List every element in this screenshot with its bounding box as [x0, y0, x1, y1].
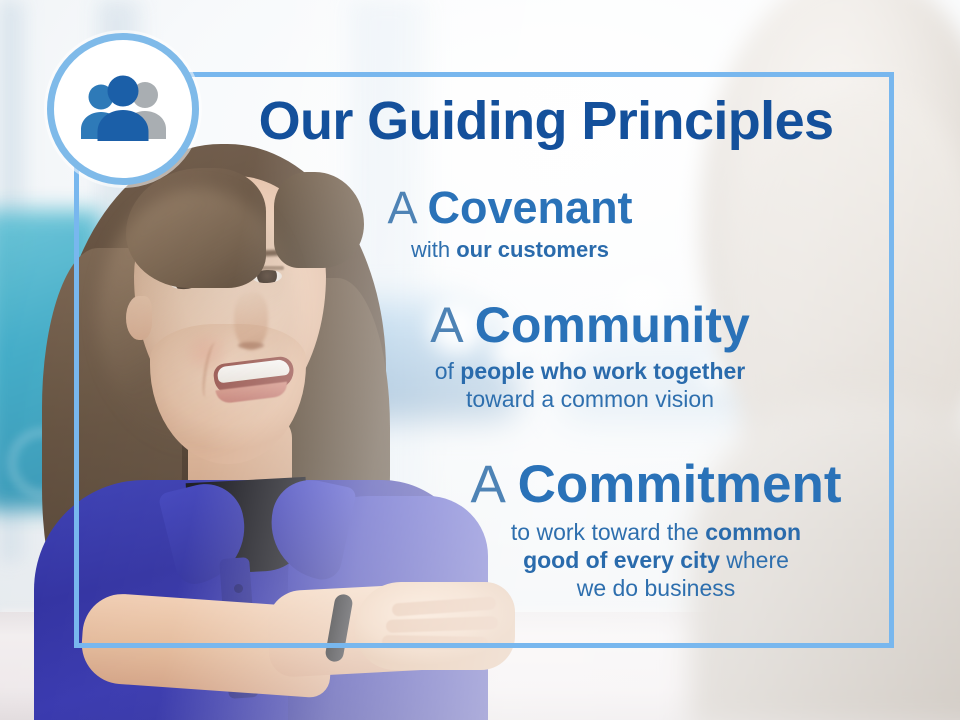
- subtext-plain: where: [720, 547, 789, 573]
- people-group-badge: [47, 33, 199, 185]
- values-banner-graphic: FLOW AUTOMOTIVE FLOW Our: [0, 0, 960, 720]
- principle-block-covenant: A Covenant with our customers: [320, 185, 700, 264]
- subtext-emphasis: our customers: [456, 237, 609, 262]
- page-title: Our Guiding Principles: [216, 94, 876, 148]
- principle-article: A: [387, 182, 415, 233]
- subtext-emphasis: good of every city: [523, 547, 720, 573]
- principle-subtext-line: of people who work together: [370, 357, 810, 385]
- principle-subtext-community: of people who work togethertoward a comm…: [370, 357, 810, 413]
- employee-finger: [382, 635, 488, 650]
- principle-headline-community: A Community: [370, 300, 810, 351]
- subtext-plain: toward a common vision: [466, 386, 714, 412]
- principle-subtext-commitment: to work toward the commongood of every c…: [428, 518, 884, 602]
- subtext-plain: to work toward the: [511, 519, 705, 545]
- principle-block-community: A Community of people who work togethert…: [370, 300, 810, 413]
- principle-headline-commitment: A Commitment: [428, 458, 884, 512]
- subtext-emphasis: people who work together: [460, 358, 745, 384]
- principle-subtext-line: good of every city where: [428, 546, 884, 574]
- principle-subtext-line: we do business: [428, 574, 884, 602]
- subtext-plain: with: [411, 237, 456, 262]
- principle-article: A: [430, 297, 461, 353]
- principle-subtext-line: with our customers: [320, 237, 700, 264]
- principle-subtext-line: toward a common vision: [370, 385, 810, 413]
- subtext-plain: we do business: [577, 575, 736, 601]
- principle-block-commitment: A Commitment to work toward the commongo…: [428, 458, 884, 602]
- people-group-icon: [75, 73, 171, 145]
- employee-hair-shine: [98, 188, 298, 448]
- subtext-plain: of: [435, 358, 461, 384]
- principle-keyword: Commitment: [518, 455, 842, 514]
- principle-article: A: [470, 455, 502, 514]
- principle-keyword: Covenant: [428, 182, 633, 233]
- principle-headline-covenant: A Covenant: [320, 185, 700, 231]
- employee-shirt-button: [234, 584, 243, 593]
- subtext-emphasis: common: [705, 519, 801, 545]
- foreground-customer: [700, 0, 960, 530]
- principle-subtext-covenant: with our customers: [320, 237, 700, 264]
- principle-subtext-line: to work toward the common: [428, 518, 884, 546]
- principle-keyword: Community: [475, 297, 750, 353]
